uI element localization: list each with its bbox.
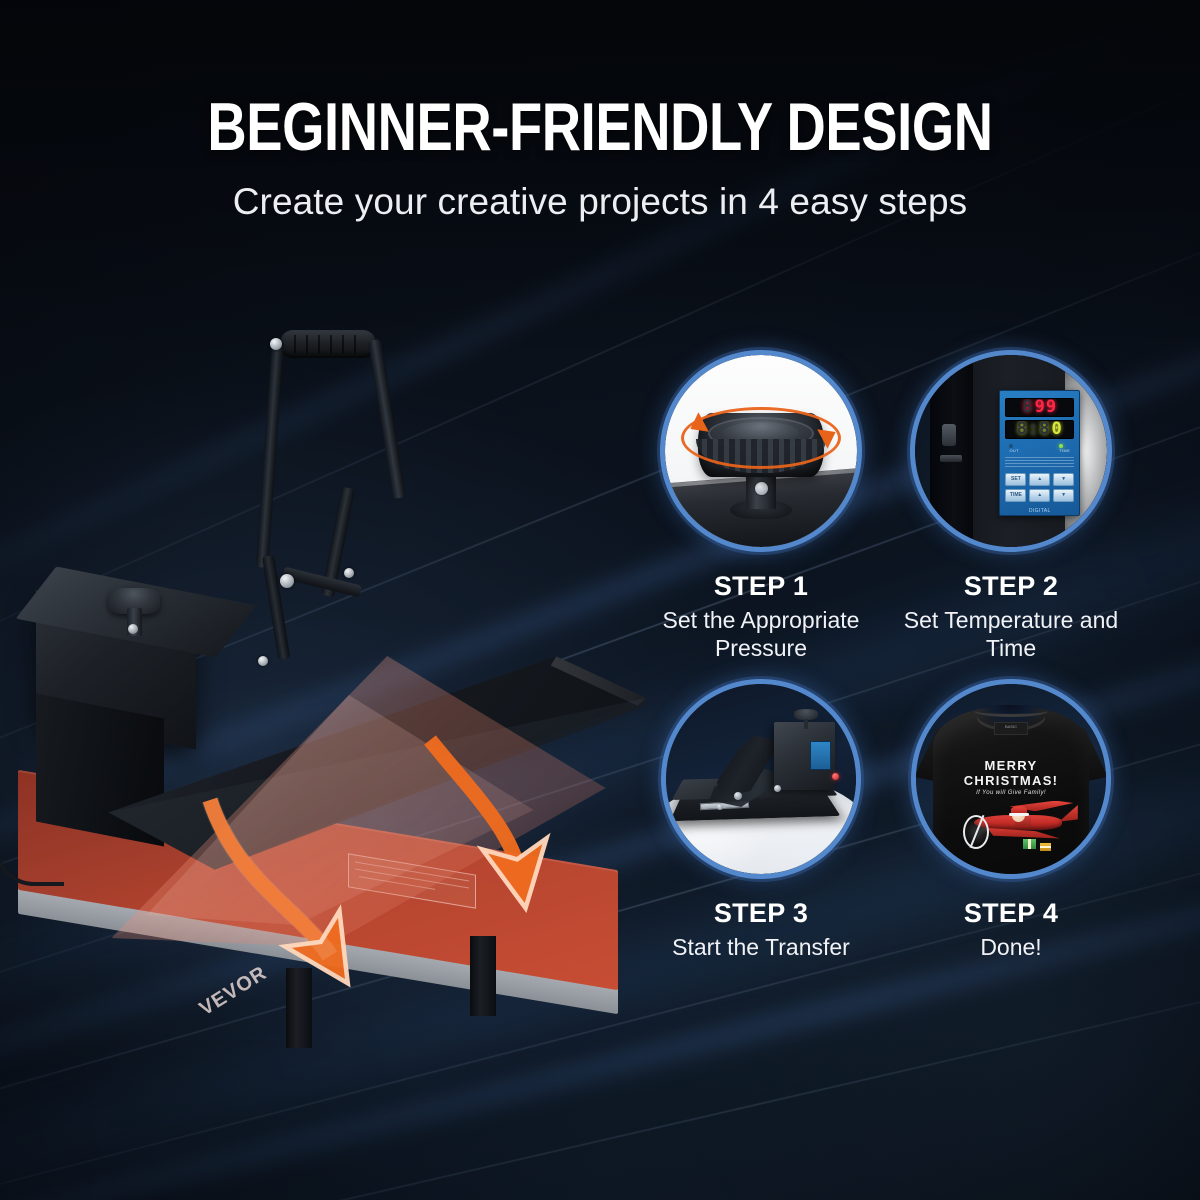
digital-controller-panel[interactable]: 899 8:80 OUT (999, 390, 1080, 517)
step-2-label: STEP 2 (964, 571, 1058, 602)
controller-button-6[interactable]: ▼ (1053, 489, 1074, 502)
step-card-3[interactable]: STEP 3 Start the Transfer (636, 684, 886, 961)
step-card-4[interactable]: BASIC MERRY CHRISTMAS! If You will Give … (886, 684, 1136, 961)
header-block: BEGINNER-FRIENDLY DESIGN Create your cre… (0, 0, 1200, 223)
product-hero-image: VEVOR (0, 320, 680, 1080)
control-panel-photo: 899 8:80 OUT (915, 355, 1107, 547)
step-1-description: Set the Appropriate Pressure (644, 606, 879, 662)
controller-button-2[interactable]: ▲ (1029, 473, 1050, 486)
out-indicator-label: OUT (1009, 448, 1018, 453)
step-1-image-bubble (665, 355, 857, 547)
panel-grille (1005, 457, 1074, 468)
temperature-value: 99 (1035, 399, 1057, 416)
press-head-knob[interactable] (794, 709, 818, 720)
plane-propeller (963, 815, 989, 849)
indicator-lamps: OUT TIME (1005, 439, 1074, 453)
santa-plane-graphic (965, 798, 1075, 847)
step-4-image-bubble: BASIC MERRY CHRISTMAS! If You will Give … (916, 684, 1106, 874)
press-power-button[interactable] (832, 773, 839, 780)
closing-motion-arrows (0, 320, 680, 1080)
closed-press-on-fabric-photo (666, 684, 856, 874)
side-latch (942, 424, 956, 446)
santa-hat (1011, 806, 1027, 814)
controller-brand-label: DIGITAL (1005, 508, 1074, 514)
motion-arrow-left-glow (210, 800, 330, 956)
rotation-arrows-icon (681, 407, 841, 469)
step-1-label: STEP 1 (714, 571, 808, 602)
page-title: BEGINNER-FRIENDLY DESIGN (120, 92, 1080, 163)
tshirt-collar-band (974, 705, 1048, 717)
machine-side-column (930, 355, 972, 547)
controller-buttons[interactable]: SET ▲ ▼ TIME ▲ ▼ (1005, 473, 1074, 502)
side-bracket (940, 455, 962, 462)
product-infographic: BEGINNER-FRIENDLY DESIGN Create your cre… (0, 0, 1200, 1200)
time-value: 0 (1052, 421, 1063, 438)
controller-button-3[interactable]: ▼ (1053, 473, 1074, 486)
steps-row-2: STEP 3 Start the Transfer BASIC MERRY CH… (636, 684, 1136, 961)
step-3-image-bubble (666, 684, 856, 874)
controller-button-5[interactable]: ▲ (1029, 489, 1050, 502)
step-3-description: Start the Transfer (672, 933, 850, 961)
step-3-label: STEP 3 (714, 898, 808, 929)
knob-stem-screw (755, 482, 768, 495)
step-card-2[interactable]: 899 8:80 OUT (886, 355, 1136, 662)
controller-button-4[interactable]: TIME (1005, 489, 1026, 502)
tshirt-print-line-1: MERRY (916, 758, 1106, 773)
time-display-prefix: 8:8 (1017, 421, 1051, 438)
printed-tshirt-photo: BASIC MERRY CHRISTMAS! If You will Give … (916, 684, 1106, 874)
press-controller-screen (810, 741, 831, 770)
tshirt-print-line-2: CHRISTMAS! (916, 773, 1106, 788)
temperature-display-prefix: 8 (1022, 399, 1033, 416)
step-2-image-bubble: 899 8:80 OUT (915, 355, 1107, 547)
steps-row-1: STEP 1 Set the Appropriate Pressure 899 (636, 355, 1136, 662)
gift-box-green (1023, 839, 1036, 849)
pressure-knob-photo (665, 355, 857, 547)
step-4-description: Done! (980, 933, 1041, 961)
temperature-display: 899 (1005, 398, 1074, 417)
gift-box-gold (1040, 843, 1051, 851)
page-subtitle: Create your creative projects in 4 easy … (0, 181, 1200, 223)
tshirt-print-line-3: If You will Give Family! (916, 790, 1106, 796)
tshirt-neck-tag: BASIC (994, 722, 1028, 735)
time-display: 8:80 (1005, 420, 1074, 439)
step-card-1[interactable]: STEP 1 Set the Appropriate Pressure (636, 355, 886, 662)
motion-arrow-right (430, 740, 520, 876)
step-2-description: Set Temperature and Time (894, 606, 1129, 662)
time-indicator-label: TIME (1059, 448, 1070, 453)
step-4-label: STEP 4 (964, 898, 1058, 929)
steps-grid: STEP 1 Set the Appropriate Pressure 899 (636, 355, 1136, 961)
controller-button-1[interactable]: SET (1005, 473, 1026, 486)
